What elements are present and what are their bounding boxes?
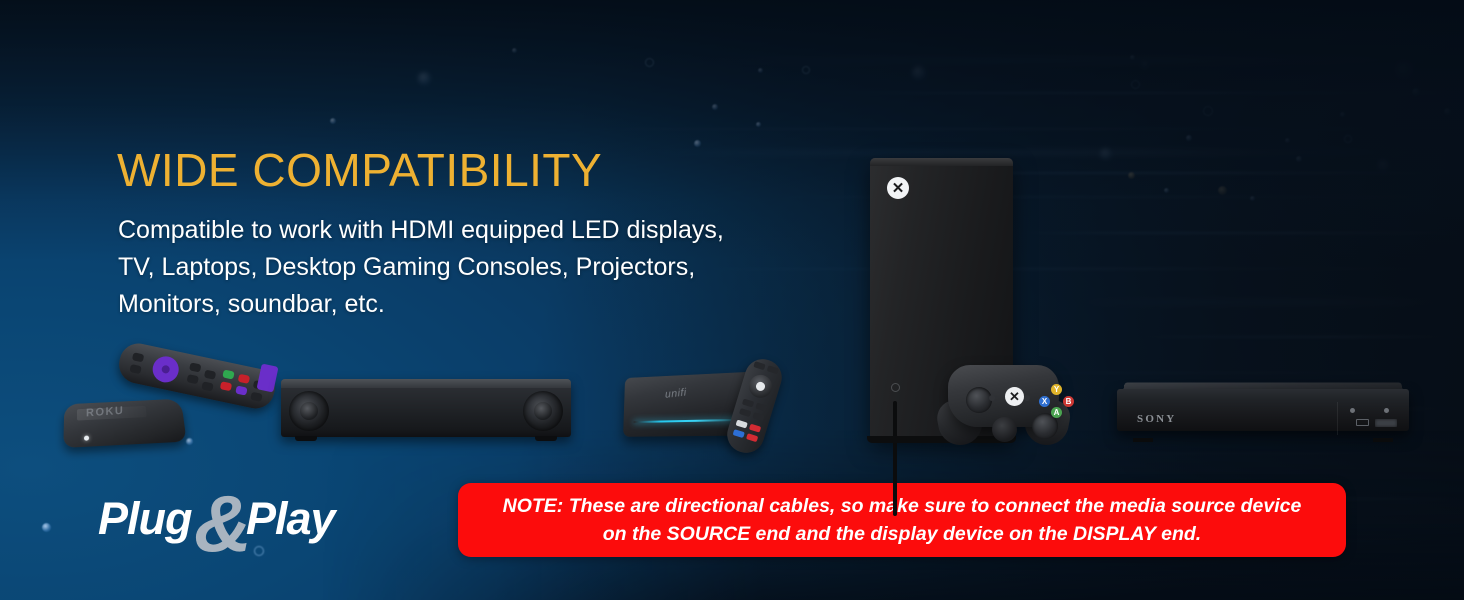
remote-dpad xyxy=(746,372,775,401)
note-line-1: NOTE: These are directional cables, so m… xyxy=(503,495,1302,517)
bluray-usb-port xyxy=(1356,419,1369,426)
bluray-disc-tray xyxy=(1375,419,1397,427)
xbox-disc-slot xyxy=(893,401,897,516)
device-sony-bluray-player: SONY xyxy=(1117,381,1409,439)
note-text: NOTE: These are directional cables, so m… xyxy=(487,492,1318,548)
device-xbox-series-x: ✕ ✕ Y X B A xyxy=(870,158,1090,455)
logo-word-plug: Plug xyxy=(98,493,192,545)
description-line-1: Compatible to work with HDMI equipped LE… xyxy=(118,212,724,249)
soundbar-foot-right xyxy=(535,436,557,441)
description-line-2: TV, Laptops, Desktop Gaming Consoles, Pr… xyxy=(118,249,724,286)
tv-box-led-strip xyxy=(634,418,745,423)
sony-brand-label: SONY xyxy=(1137,413,1176,425)
wide-compatibility-banner: WIDE COMPATIBILITY Compatible to work wi… xyxy=(0,0,1464,600)
xbox-controller: ✕ Y X B A xyxy=(936,351,1071,446)
device-soundbar xyxy=(281,379,571,437)
device-roku-streaming-box: ROKU xyxy=(60,348,270,453)
xbox-logo-icon: ✕ xyxy=(887,177,909,199)
soundbar-foot-left xyxy=(295,436,317,441)
bluray-power-button[interactable] xyxy=(1384,408,1389,413)
controller-abxy-cluster: Y X B A xyxy=(1039,384,1073,418)
controller-view-button xyxy=(989,395,995,401)
soundbar-top-panel xyxy=(281,379,571,388)
xbox-top-vent xyxy=(870,158,1013,166)
controller-dpad xyxy=(992,417,1017,442)
page-title: WIDE COMPATIBILITY xyxy=(117,143,602,197)
controller-xbox-button[interactable]: ✕ xyxy=(1005,387,1024,406)
tv-box-brand-label: unifi xyxy=(665,387,687,401)
controller-menu-button xyxy=(1024,395,1030,401)
controller-button-a[interactable]: A xyxy=(1051,407,1062,418)
xbox-power-button[interactable] xyxy=(891,383,900,392)
note-line-2: on the SOURCE end and the display device… xyxy=(603,523,1201,545)
controller-body: ✕ Y X B A xyxy=(948,365,1059,427)
roku-box-body xyxy=(63,399,186,448)
bluray-eject-button[interactable] xyxy=(1350,408,1355,413)
xbox-logo-glyph: ✕ xyxy=(892,181,905,196)
controller-button-x[interactable]: X xyxy=(1039,396,1050,407)
soundbar-driver-left xyxy=(289,391,329,431)
bluray-foot-left xyxy=(1133,438,1153,442)
note-banner: NOTE: These are directional cables, so m… xyxy=(458,483,1346,557)
roku-dpad xyxy=(150,354,181,385)
compatibility-description: Compatible to work with HDMI equipped LE… xyxy=(118,212,724,323)
description-line-3: Monitors, soundbar, etc. xyxy=(118,286,724,323)
soundbar-driver-right xyxy=(523,391,563,431)
roku-power-led xyxy=(84,436,89,441)
bluray-foot-right xyxy=(1373,438,1393,442)
ampersand-glyph: & xyxy=(194,478,252,570)
device-android-tv-box: unifi xyxy=(620,360,820,455)
controller-button-y[interactable]: Y xyxy=(1051,384,1062,395)
logo-word-play: Play xyxy=(246,493,335,545)
controller-button-b[interactable]: B xyxy=(1063,396,1074,407)
plug-and-play-logo: & Plug Play xyxy=(98,487,388,549)
soundbar-body xyxy=(281,379,571,437)
bluray-body: SONY xyxy=(1117,389,1409,431)
controller-stick-left xyxy=(966,387,992,413)
